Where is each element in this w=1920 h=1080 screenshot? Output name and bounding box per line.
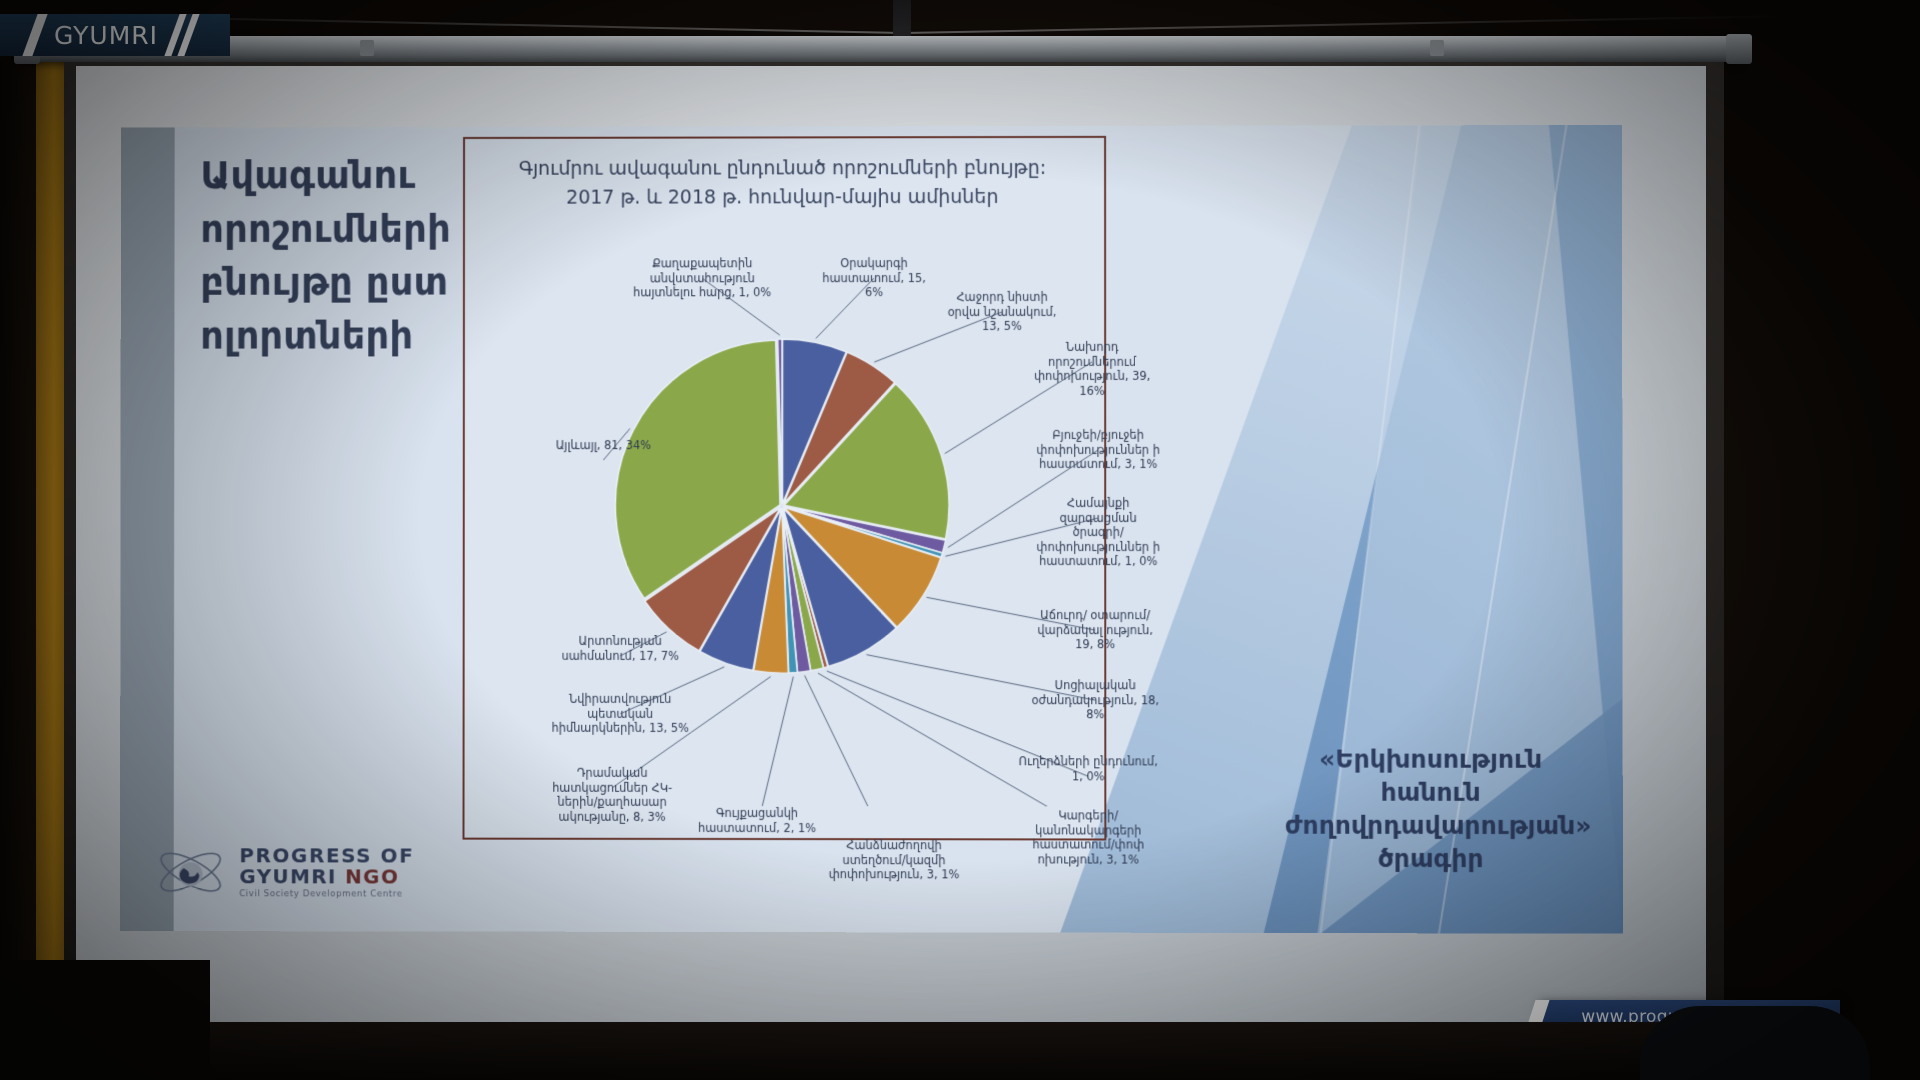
leader-line <box>805 675 894 806</box>
logo-tagline: Civil Society Development Centre <box>239 890 414 899</box>
foreground-left-object <box>0 960 210 1080</box>
bug-label: GYUMRI <box>54 21 158 50</box>
broadcast-bug: GYUMRI <box>0 14 230 56</box>
projector-screen-bar <box>20 36 1740 62</box>
chart-title: Գյումրու ավագանու ընդունած որոշումների բ… <box>463 154 1102 212</box>
pie-slice-label: Աճուրդ/ օտարում/վարձակալ ություն, 19, 8% <box>1028 608 1162 652</box>
pie-slice-label: Սոցիալական օժանդակություն, 18, 8% <box>1028 678 1162 722</box>
logo-line-2b: NGO <box>345 864 399 888</box>
foreground-bottom-edge <box>210 1022 1660 1080</box>
pie-slice-label: Կարգերի/ կանոնակարգերի հաստատում/փոփ ոխո… <box>1018 808 1158 867</box>
pie-slice-group <box>615 339 949 673</box>
logo-line-2: GYUMRI NGO <box>239 866 414 887</box>
pie-slice-label: Գույքացանկի հաստատում, 2, 1% <box>692 806 822 835</box>
pie-slice-label: Նվիրատվություն պետական հիմնարկներին, 13,… <box>550 692 690 736</box>
logo-line-2a: GYUMRI <box>239 864 345 888</box>
pie-slice-label: Օրակարգի հաստատում, 15, 6% <box>814 256 934 300</box>
wall-dark-edge <box>0 0 36 1080</box>
pie-slice-label: Համայնքի զարգացման ծրագրի/ փոփոխությունն… <box>1034 496 1162 569</box>
pie-slice-label: Բյուջեի/բյուջեի փոփոխություններ ի հաստատ… <box>1034 428 1162 472</box>
organization-logo: PROGRESS OF GYUMRI NGO Civil Society Dev… <box>154 833 473 911</box>
pie-slice-label: Հաջորդ նիստի օրվա նշանակում, 13, 5% <box>942 290 1062 334</box>
pie-slice-label: Նախորդ որոշումներում փոփոխություն, 39, 1… <box>1032 340 1152 398</box>
pie-slice-label: Դրամական հատկացումներ ՀԿ-ներին/քաղհասար … <box>534 766 690 825</box>
screen-bar-cap-right <box>1726 34 1752 64</box>
screen-bar-knob-left <box>360 40 374 56</box>
pie-slice-label: Հանձնաժողովի ստեղծում/կազմի փոփոխություն… <box>824 838 964 882</box>
chart-title-line-1: Գյումրու ավագանու ընդունած որոշումների բ… <box>463 154 1102 183</box>
pie-slice-label: Այլևայլ, 81, 34% <box>529 438 679 453</box>
screenshot-root: Ավագանու որոշումների բնույթը ըստ ոլորտնե… <box>0 0 1920 1080</box>
slide-title: Ավագանու որոշումների բնույթը ըստ ոլորտնե… <box>200 149 499 363</box>
pie-chart: Քաղաքապետին անվստահություն հայտնելու հար… <box>463 246 1103 807</box>
bug-slash-1 <box>22 14 47 56</box>
pie-slice-label: Արտոնության սահմանում, 17, 7% <box>550 634 690 663</box>
chart-title-line-2: 2017 թ. և 2018 թ. հունվար-մայիս ամիսներ <box>463 182 1102 211</box>
pie-slice-label: Քաղաքապետին անվստահություն հայտնելու հար… <box>622 256 782 300</box>
foreground-chair <box>1640 1006 1870 1080</box>
program-name: «Երկխոսություն հանուն ժողովրդավարության»… <box>1285 742 1577 875</box>
globe-atom-icon <box>154 842 228 902</box>
leader-line <box>757 677 793 807</box>
presentation-slide: Ավագանու որոշումների բնույթը ըստ ոլորտնե… <box>120 125 1623 934</box>
screen-bar-knob-right <box>1430 40 1444 56</box>
pie-slice-label: Ուղերձների ընդունում, 1, 0% <box>1018 754 1158 783</box>
logo-text: PROGRESS OF GYUMRI NGO Civil Society Dev… <box>239 845 414 899</box>
